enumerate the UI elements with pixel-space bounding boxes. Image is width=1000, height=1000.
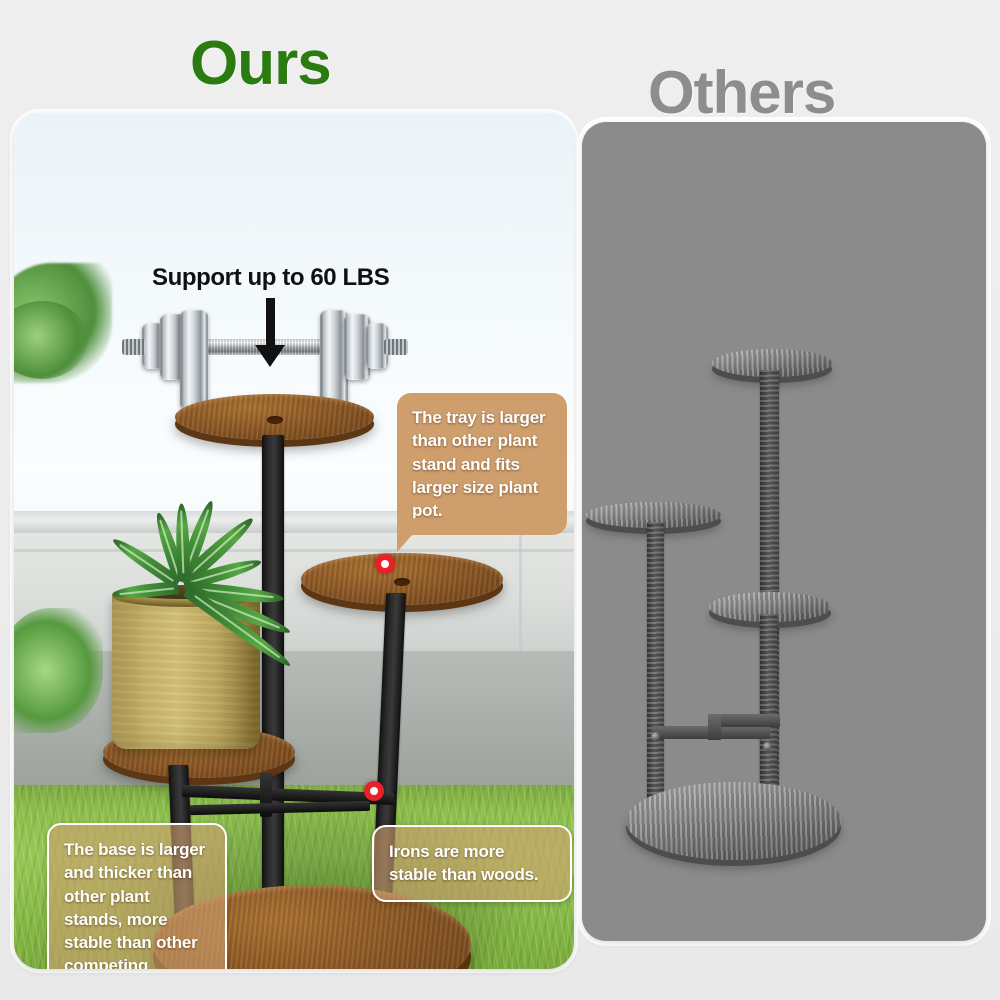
tray-top [175,394,374,440]
plant-leaf [112,581,179,601]
callout-irons: Irons are more stable than woods. [372,825,572,902]
tray-marker-core [381,560,389,568]
load-arrow-head [255,345,285,367]
others-rail-cross [708,714,721,740]
tray-marker [375,554,395,574]
callout-tray-tail [397,518,427,552]
center-post [262,435,284,935]
page-title-others: Others [648,58,835,127]
plant-leaf [175,503,191,577]
plant-foliage [122,511,302,621]
dumbbell-screw-left [122,339,146,355]
ours-panel: Support up to 60 LBS The tray is larger … [14,113,574,969]
frame-marker-core [370,787,378,795]
dumbbell-screw-right [384,339,408,355]
support-capacity-label: Support up to 60 LBS [152,264,389,292]
others-panel [582,122,986,941]
others-screw-right [763,742,772,751]
load-arrow-stem [266,298,275,350]
callout-base: The base is larger and thicker than othe… [47,823,227,969]
others-left-post [647,522,664,822]
tray-middle-right-hole [394,578,410,586]
frame-marker [364,781,384,801]
callout-tray: The tray is larger than other plant stan… [397,393,567,535]
dumbbell-plate-left-inner [180,310,208,410]
comparison-image: Ours Others [0,0,1000,1000]
tray-top-hole [267,416,283,424]
page-title-ours: Ours [190,28,331,99]
others-screw-left [651,732,660,741]
others-base-tray [626,782,841,860]
